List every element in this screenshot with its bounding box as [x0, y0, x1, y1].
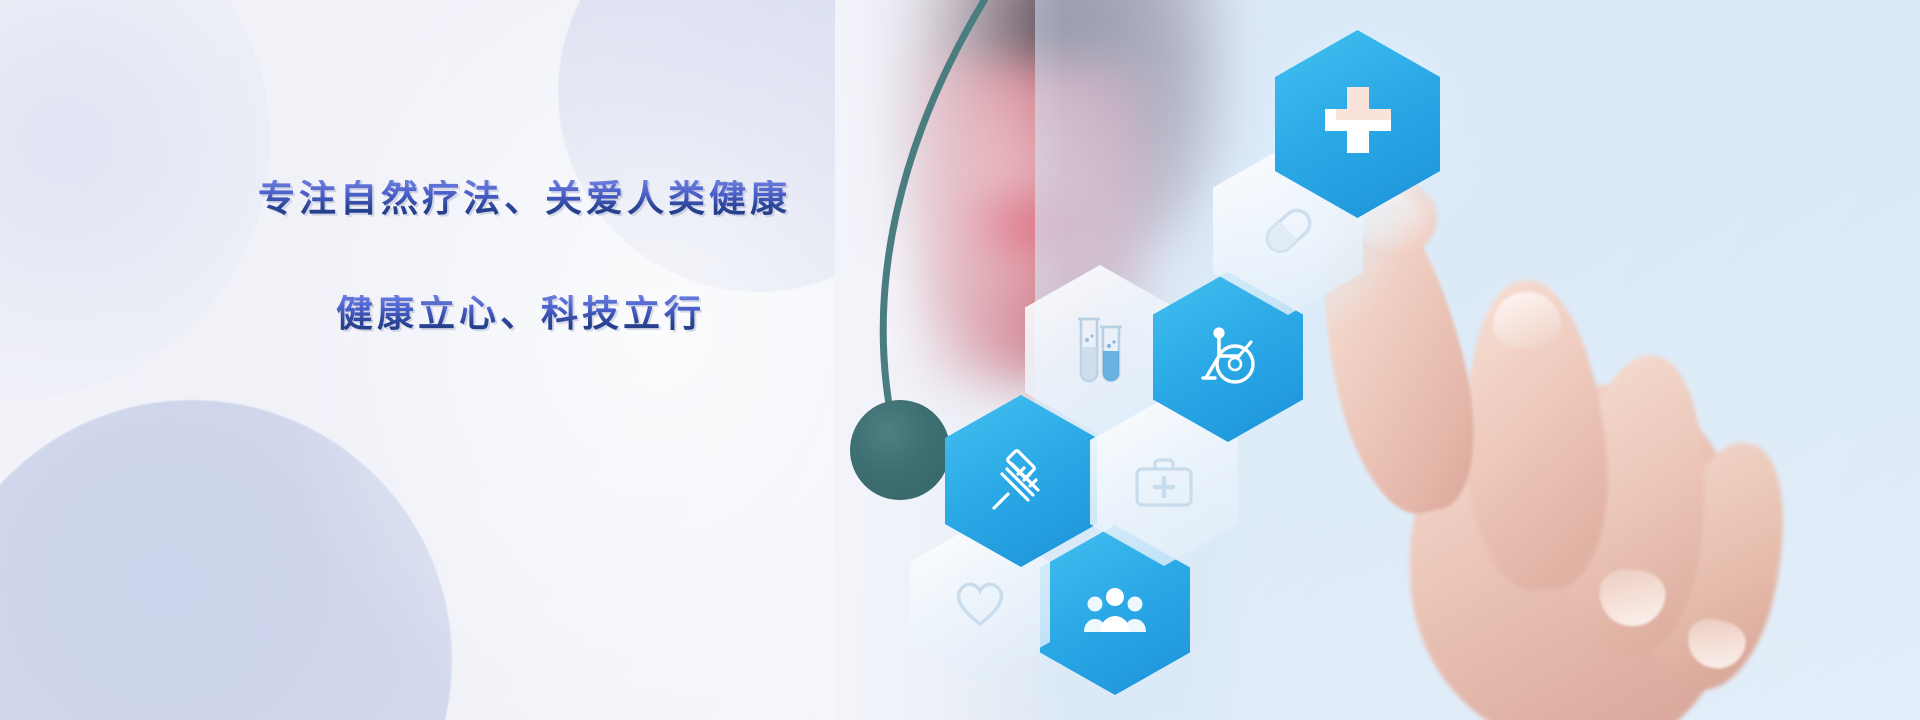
headline-line-2-wrapper: 健康立心、科技立行 健康立心、科技立行 [336, 295, 878, 332]
hero-banner: 专注自然疗法、关爱人类健康 专注自然疗法、关爱人类健康 健康立心、科技立行 健康… [0, 0, 1920, 720]
decorative-circle-faint [0, 0, 270, 400]
hexagon-icon-cluster [835, 0, 1920, 720]
banner-photo-zone [835, 0, 1920, 720]
test-tubes-icon [1072, 313, 1128, 387]
headline-line-1-wrapper: 专注自然疗法、关爱人类健康 专注自然疗法、关爱人类健康 [258, 180, 878, 217]
decorative-circle-bottom [0, 400, 452, 720]
syringe-icon [988, 448, 1054, 514]
people-group-icon [1084, 584, 1146, 636]
medical-cross-icon [1317, 83, 1399, 165]
capsule-pill-icon [1253, 195, 1323, 265]
heart-icon [953, 577, 1007, 627]
banner-headline: 专注自然疗法、关爱人类健康 专注自然疗法、关爱人类健康 健康立心、科技立行 健康… [258, 180, 878, 332]
wheelchair-icon [1195, 326, 1261, 388]
headline-line-1: 专注自然疗法、关爱人类健康 [258, 180, 878, 217]
medical-kit-icon [1134, 456, 1194, 508]
headline-line-2: 健康立心、科技立行 [336, 295, 878, 332]
